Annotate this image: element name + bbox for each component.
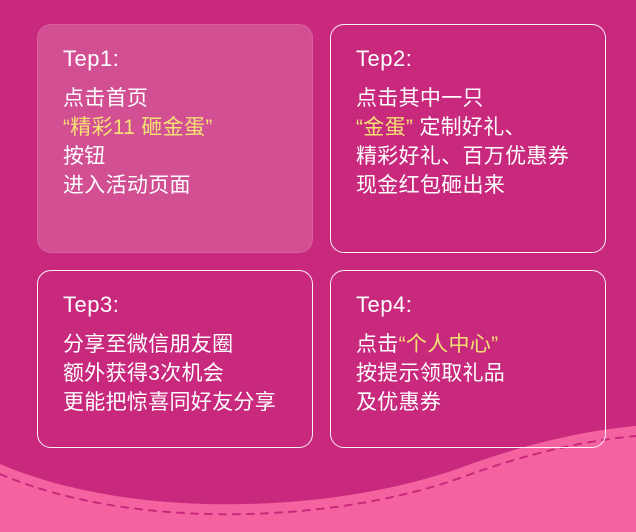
step-card-4-lines: 点击“个人中心” 按提示领取礼品 及优惠券 [356, 331, 605, 418]
step-text: 点击其中一只 [356, 87, 484, 110]
step-line: 额外获得3次机会 [63, 360, 312, 389]
step-line: 现金红包砸出来 [356, 172, 605, 201]
step-card-1-lines: 点击首页 “精彩11 砸金蛋” 按钮 进入活动页面 [63, 85, 312, 201]
step-card-3-lines: 分享至微信朋友圈 额外获得3次机会 更能把惊喜同好友分享 [63, 331, 312, 418]
step-text: 点击 [356, 333, 399, 356]
step-card-3-content: Tep3: 分享至微信朋友圈 额外获得3次机会 更能把惊喜同好友分享 [38, 271, 312, 418]
step-card-1-title: Tep1: [63, 47, 312, 71]
step-text-highlight: “个人中心” [399, 333, 499, 356]
step-line: 进入活动页面 [63, 172, 312, 201]
step-line: 按钮 [63, 143, 312, 172]
step-text: 点击首页 [63, 87, 148, 110]
step-card-1[interactable]: Tep1: 点击首页 “精彩11 砸金蛋” 按钮 进入活动页面 [37, 24, 313, 253]
step-line: 点击首页 [63, 85, 312, 114]
step-text: 进入活动页面 [63, 174, 191, 197]
step-line: 点击“个人中心” [356, 331, 605, 360]
step-text: 更能把惊喜同好友分享 [63, 391, 276, 414]
step-text-highlight: “金蛋” [356, 116, 413, 139]
step-card-4-title: Tep4: [356, 293, 605, 317]
step-card-3[interactable]: Tep3: 分享至微信朋友圈 额外获得3次机会 更能把惊喜同好友分享 [37, 270, 313, 448]
step-line: 更能把惊喜同好友分享 [63, 389, 312, 418]
step-text: 精彩好礼、百万优惠券 [356, 145, 569, 168]
step-text: 定制好礼、 [413, 116, 526, 139]
step-card-4[interactable]: Tep4: 点击“个人中心” 按提示领取礼品 及优惠券 [330, 270, 606, 448]
promo-steps-banner: Tep1: 点击首页 “精彩11 砸金蛋” 按钮 进入活动页面 Tep2: [0, 0, 636, 532]
step-text: 及优惠券 [356, 391, 441, 414]
step-card-2[interactable]: Tep2: 点击其中一只 “金蛋” 定制好礼、 精彩好礼、百万优惠券 现金红包砸… [330, 24, 606, 253]
step-line: 及优惠券 [356, 389, 605, 418]
step-card-2-content: Tep2: 点击其中一只 “金蛋” 定制好礼、 精彩好礼、百万优惠券 现金红包砸… [331, 25, 605, 201]
step-line: 精彩好礼、百万优惠券 [356, 143, 605, 172]
step-text: 按提示领取礼品 [356, 362, 505, 385]
step-card-4-content: Tep4: 点击“个人中心” 按提示领取礼品 及优惠券 [331, 271, 605, 418]
step-text: 按钮 [63, 145, 106, 168]
step-line: 点击其中一只 [356, 85, 605, 114]
step-line: 分享至微信朋友圈 [63, 331, 312, 360]
step-card-2-lines: 点击其中一只 “金蛋” 定制好礼、 精彩好礼、百万优惠券 现金红包砸出来 [356, 85, 605, 201]
step-text-highlight: “精彩11 砸金蛋” [63, 116, 213, 139]
step-line: “精彩11 砸金蛋” [63, 114, 312, 143]
step-line: “金蛋” 定制好礼、 [356, 114, 605, 143]
step-line: 按提示领取礼品 [356, 360, 605, 389]
step-card-3-title: Tep3: [63, 293, 312, 317]
step-text: 现金红包砸出来 [356, 174, 505, 197]
step-card-1-content: Tep1: 点击首页 “精彩11 砸金蛋” 按钮 进入活动页面 [38, 25, 312, 201]
step-text: 额外获得3次机会 [63, 362, 224, 385]
step-text: 分享至微信朋友圈 [63, 333, 233, 356]
step-card-2-title: Tep2: [356, 47, 605, 71]
